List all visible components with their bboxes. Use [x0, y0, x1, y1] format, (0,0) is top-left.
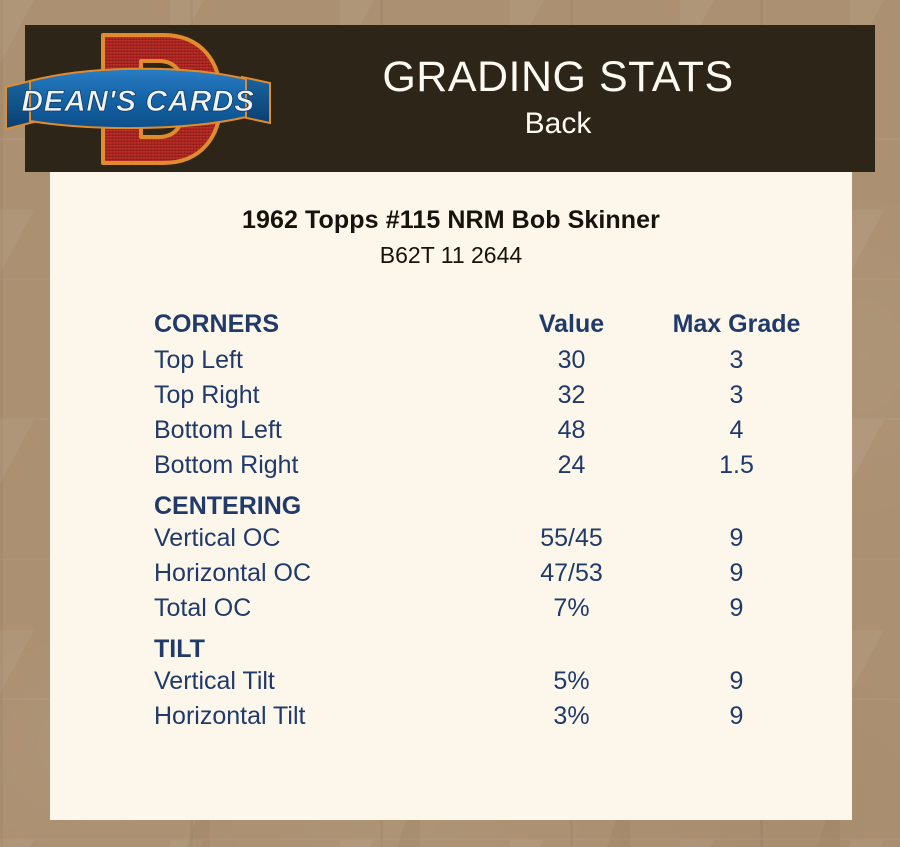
table-row: Top Left303: [154, 343, 814, 378]
table-row: Vertical Tilt5%9: [154, 664, 814, 699]
stat-value: 55/45: [484, 521, 659, 556]
stat-max-grade: 9: [659, 556, 814, 591]
header-bar: DEAN'S CARDS GRADING STATS Back: [25, 25, 875, 172]
stat-max-grade: 3: [659, 343, 814, 378]
stat-label: Vertical Tilt: [154, 664, 484, 699]
table-row: Top Right323: [154, 378, 814, 413]
stat-label: Total OC: [154, 591, 484, 626]
section-header-tilt: TILT: [154, 626, 484, 664]
column-header-value: Value: [484, 305, 659, 343]
stat-value: 3%: [484, 699, 659, 734]
stat-value: 24: [484, 448, 659, 483]
table-row: Bottom Right241.5: [154, 448, 814, 483]
stat-value: 7%: [484, 591, 659, 626]
stat-value: 5%: [484, 664, 659, 699]
table-header-row: CORNERSValueMax Grade: [154, 305, 814, 343]
page-title: GRADING STATS: [275, 55, 841, 101]
stat-max-grade: 4: [659, 413, 814, 448]
section-header-centering: CENTERING: [154, 483, 484, 521]
section-header-row: CENTERING: [154, 483, 814, 521]
stat-value: 30: [484, 343, 659, 378]
section-header-row: TILT: [154, 626, 814, 664]
card-title: 1962 Topps #115 NRM Bob Skinner: [50, 206, 852, 235]
stat-max-grade: 9: [659, 591, 814, 626]
stat-max-grade: 1.5: [659, 448, 814, 483]
section-header-corners: CORNERS: [154, 305, 484, 343]
stat-max-grade: 9: [659, 664, 814, 699]
stat-value: 32: [484, 378, 659, 413]
table-row: Horizontal OC47/539: [154, 556, 814, 591]
grading-stats-table: CORNERSValueMax GradeTop Left303Top Righ…: [154, 305, 814, 734]
stat-label: Bottom Left: [154, 413, 484, 448]
page-subtitle: Back: [275, 105, 841, 143]
deans-cards-logo[interactable]: DEAN'S CARDS: [25, 25, 275, 172]
stat-label: Vertical OC: [154, 521, 484, 556]
stat-max-grade: 9: [659, 521, 814, 556]
table-row: Vertical OC55/459: [154, 521, 814, 556]
table-row: Total OC7%9: [154, 591, 814, 626]
header-title-block: GRADING STATS Back: [275, 55, 875, 142]
table-row: Horizontal Tilt3%9: [154, 699, 814, 734]
stat-label: Top Left: [154, 343, 484, 378]
svg-text:DEAN'S CARDS: DEAN'S CARDS: [21, 85, 254, 118]
stat-label: Horizontal Tilt: [154, 699, 484, 734]
card-identifier: B62T 11 2644: [50, 242, 852, 269]
stat-max-grade: 9: [659, 699, 814, 734]
stat-value: 47/53: [484, 556, 659, 591]
content-panel: 1962 Topps #115 NRM Bob Skinner B62T 11 …: [50, 172, 852, 820]
stat-max-grade: 3: [659, 378, 814, 413]
stat-label: Horizontal OC: [154, 556, 484, 591]
stat-value: 48: [484, 413, 659, 448]
column-header-max-grade: Max Grade: [659, 305, 814, 343]
table-row: Bottom Left484: [154, 413, 814, 448]
stat-label: Bottom Right: [154, 448, 484, 483]
stat-label: Top Right: [154, 378, 484, 413]
logo-banner: DEAN'S CARDS: [0, 67, 275, 135]
